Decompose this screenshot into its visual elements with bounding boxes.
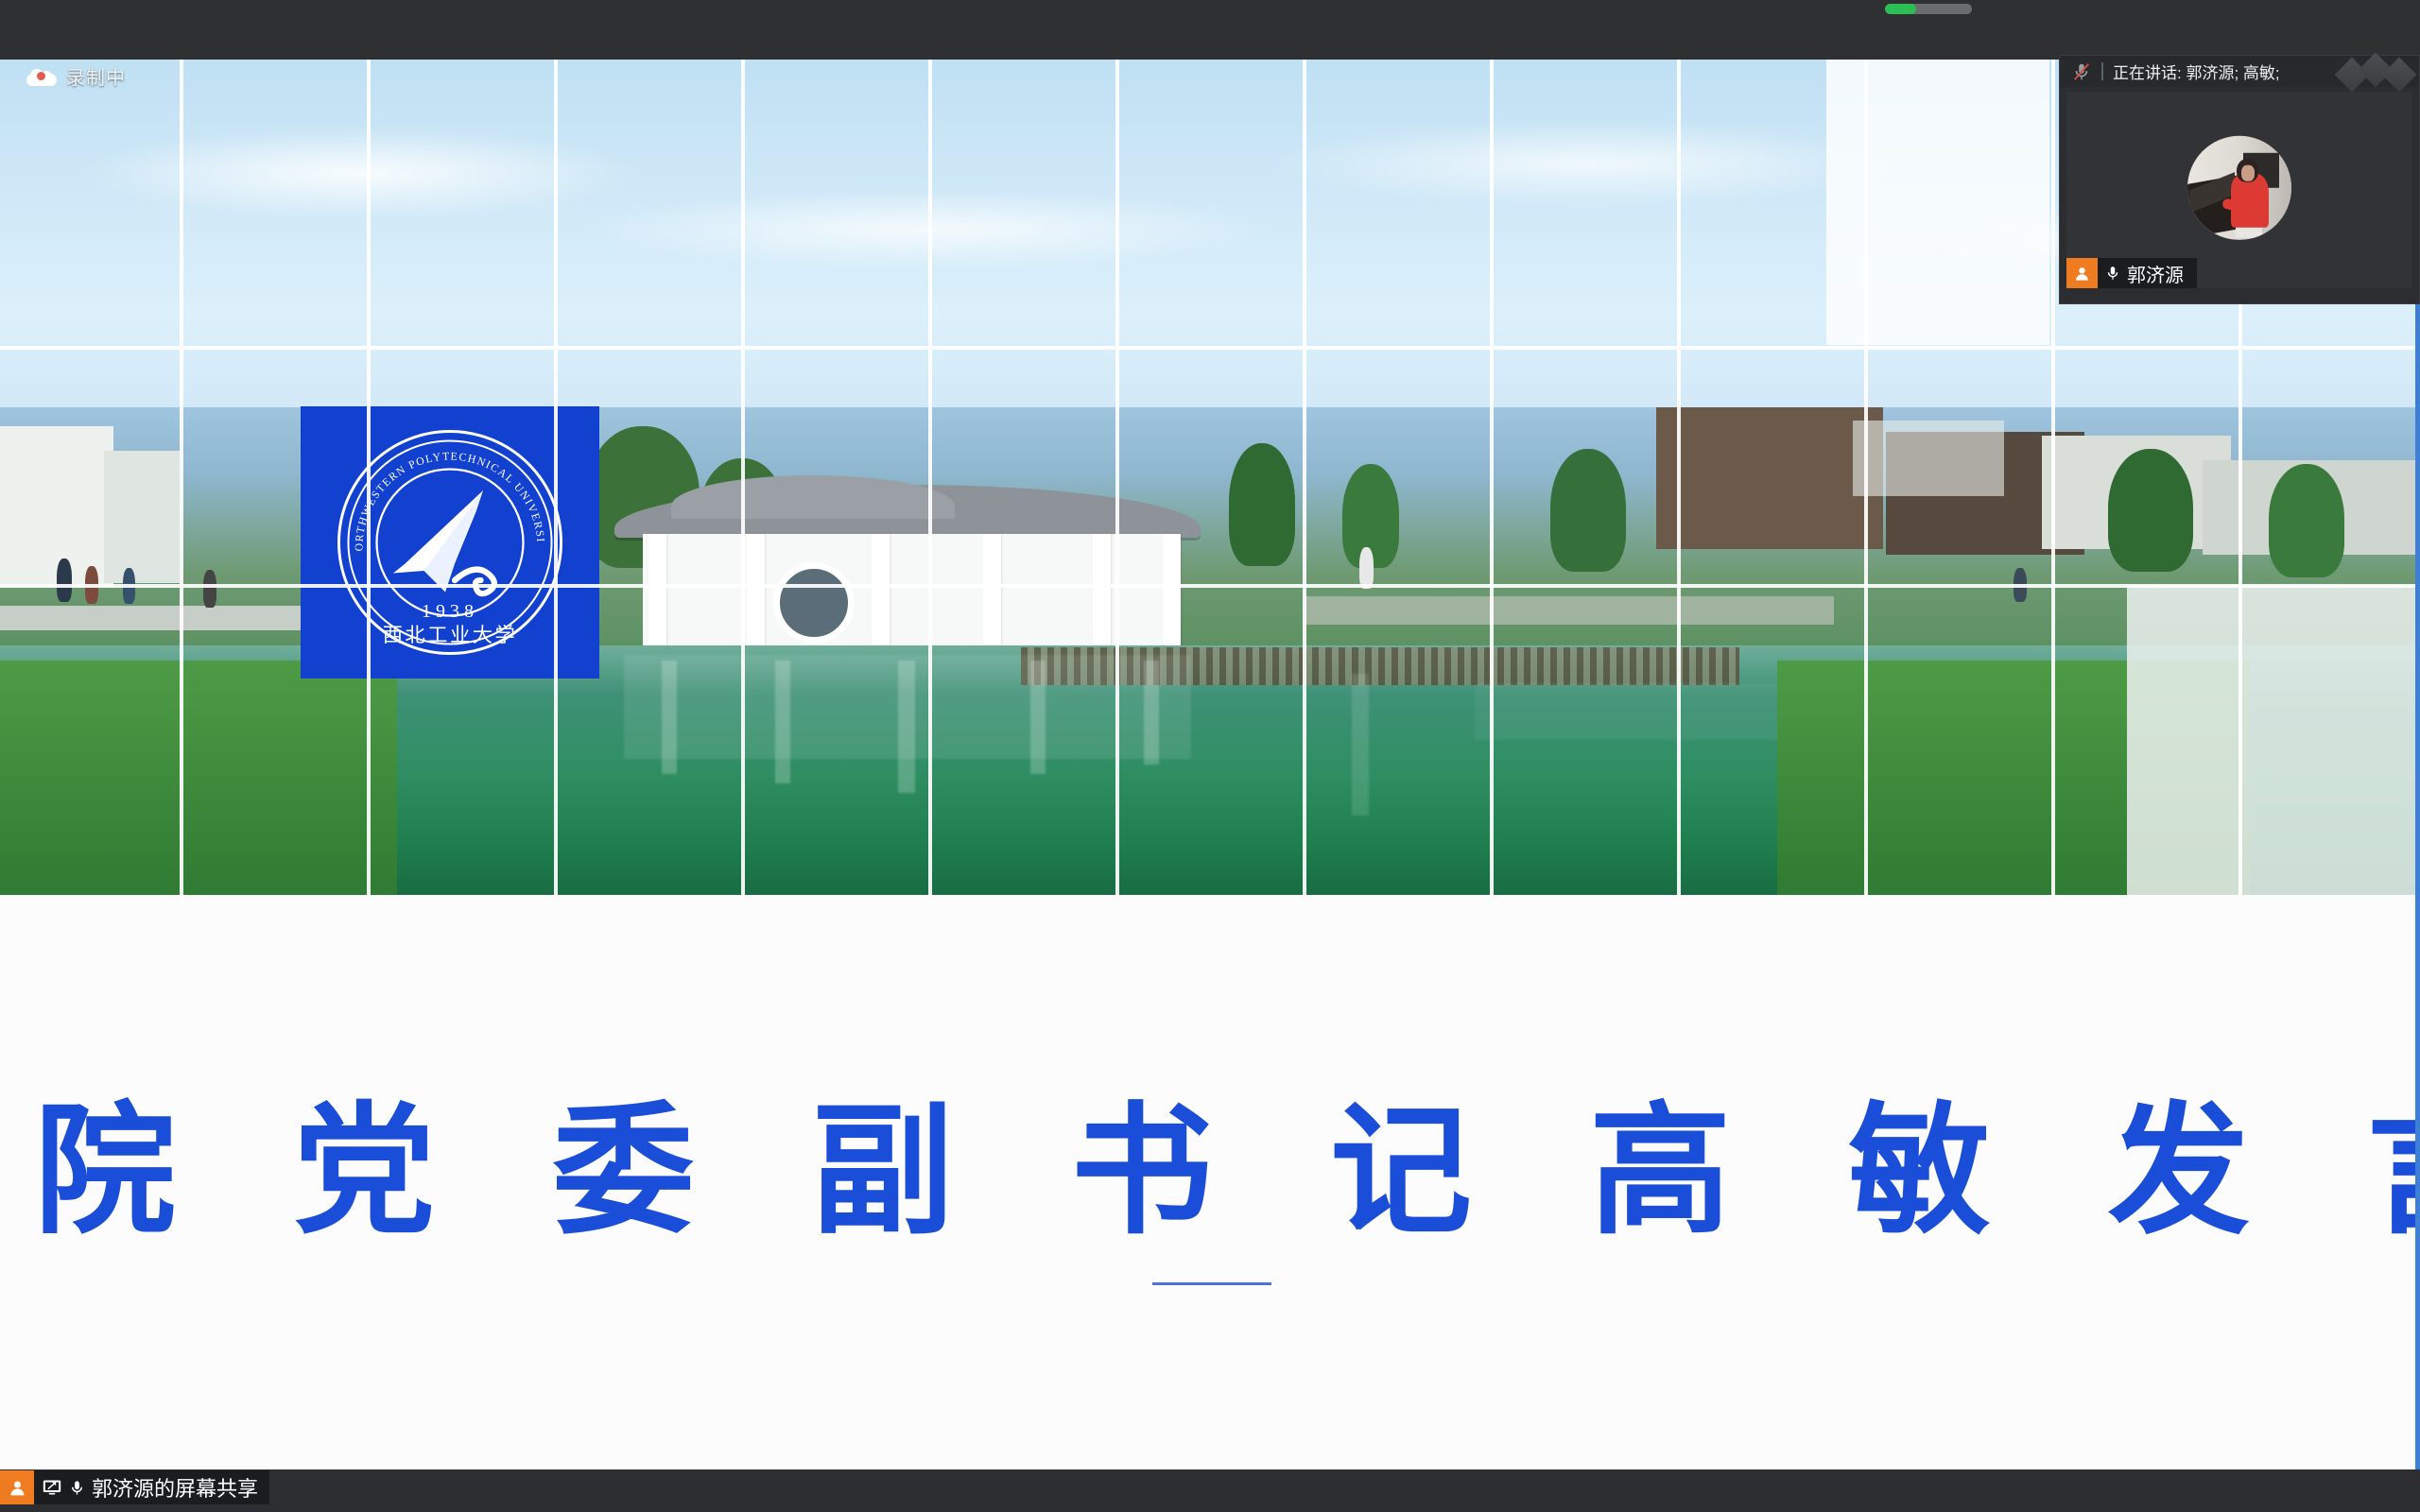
grass-left bbox=[0, 661, 397, 895]
status-badge: 郭济源 bbox=[2066, 258, 2197, 288]
zoom-meeting-window: NORTHWESTERN POLYTECHNICAL UNIVERSITY 19… bbox=[0, 0, 2420, 1512]
screen-share-status-bar: 郭济源的屏幕共享 bbox=[0, 1470, 269, 1504]
participant-name: 郭济源 bbox=[2127, 260, 2184, 287]
shared-screen-region[interactable]: NORTHWESTERN POLYTECHNICAL UNIVERSITY 19… bbox=[0, 60, 2420, 1469]
avatar bbox=[2187, 136, 2291, 240]
speaking-now-label: 正在讲话: 郭济源; 高敏; bbox=[2113, 60, 2280, 83]
share-owner-label: 郭济源的屏幕共享 bbox=[92, 1472, 258, 1503]
nwpu-university-logo: NORTHWESTERN POLYTECHNICAL UNIVERSITY 19… bbox=[301, 406, 599, 679]
chevron-collapse-icon[interactable] bbox=[2338, 58, 2411, 86]
recording-label: 录制中 bbox=[66, 62, 126, 90]
meeting-top-bar bbox=[0, 0, 2420, 60]
grass-right bbox=[1777, 661, 2250, 895]
share-progress-bar bbox=[1885, 4, 1972, 14]
speaker-panel-header: 正在讲话: 郭济源; 高敏; bbox=[2060, 56, 2419, 87]
recording-indicator: 录制中 bbox=[26, 62, 126, 90]
svg-text:西北工业大学: 西北工业大学 bbox=[383, 624, 518, 647]
microphone-icon bbox=[2104, 265, 2121, 282]
clouds bbox=[0, 97, 2420, 324]
person-avatar-icon bbox=[2066, 258, 2098, 288]
header-divider bbox=[2101, 62, 2103, 80]
title-underline-rule bbox=[1152, 1282, 1271, 1285]
microphone-icon bbox=[68, 1479, 86, 1497]
slide-photo-band: NORTHWESTERN POLYTECHNICAL UNIVERSITY 19… bbox=[0, 60, 2420, 895]
person-avatar-icon bbox=[0, 1470, 34, 1504]
slide-title: 院 党 委 副 书 记 高 敏 发 言 bbox=[0, 1086, 2420, 1259]
svg-text:1938: 1938 bbox=[422, 601, 478, 622]
microphone-muted-icon[interactable] bbox=[2071, 61, 2092, 82]
active-speaker-panel[interactable]: 正在讲话: 郭济源; 高敏; bbox=[2059, 55, 2420, 304]
speaker-video-tile[interactable]: 郭济源 bbox=[2066, 92, 2412, 288]
cloud-recording-icon bbox=[26, 67, 57, 86]
share-progress-fill bbox=[1885, 4, 1916, 14]
screen-share-icon bbox=[42, 1478, 62, 1497]
